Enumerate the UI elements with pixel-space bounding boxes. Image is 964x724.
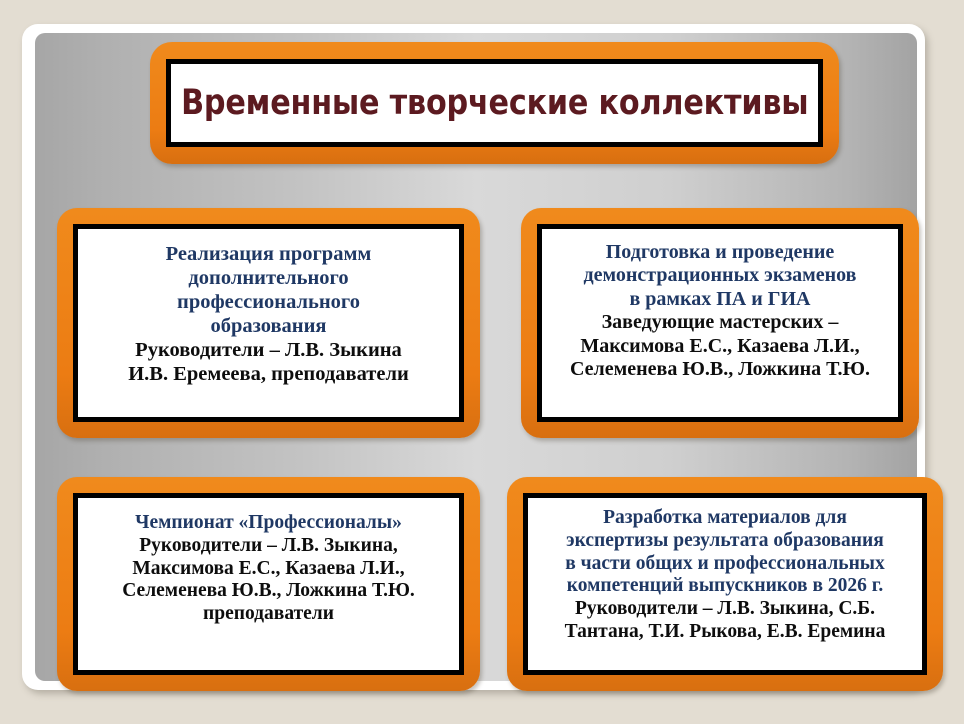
card-line: Реализация программ (84, 243, 453, 267)
card-line: Руководители – Л.В. Зыкина (84, 339, 453, 363)
card-line: Селеменева Ю.В., Ложкина Т.Ю. (548, 358, 892, 381)
card-top-left[interactable]: Реализация программ дополнительного проф… (57, 208, 480, 438)
card-line: Разработка материалов для (534, 507, 916, 530)
card-line: Заведующие мастерских – (548, 311, 892, 334)
card-top-right-inner: Подготовка и проведение демонстрационных… (537, 224, 903, 422)
card-bottom-right-inner: Разработка материалов для экспертизы рез… (523, 493, 927, 675)
slide-title-frame: Временные творческие коллективы (150, 42, 839, 164)
card-line: И.В. Еремеева, преподаватели (84, 363, 453, 387)
card-line: образования (84, 315, 453, 339)
card-line: Селеменева Ю.В., Ложкина Т.Ю. (84, 580, 453, 603)
card-line: Руководители – Л.В. Зыкина, С.Б. (534, 598, 916, 621)
card-line: Максимова Е.С., Казаева Л.И., (84, 558, 453, 581)
card-line: Тантана, Т.И. Рыкова, Е.В. Еремина (534, 621, 916, 644)
card-line: компетенций выпускников в 2026 г. (534, 575, 916, 598)
slide-canvas: Временные творческие коллективы Реализац… (0, 0, 964, 724)
card-line: преподаватели (84, 603, 453, 626)
card-bottom-left[interactable]: Чемпионат «Профессионалы» Руководители –… (57, 477, 480, 691)
card-line: профессионального (84, 291, 453, 315)
card-bottom-right[interactable]: Разработка материалов для экспертизы рез… (507, 477, 943, 691)
card-line: Подготовка и проведение (548, 241, 892, 264)
card-bottom-left-inner: Чемпионат «Профессионалы» Руководители –… (73, 493, 464, 675)
slide-title-inner: Временные творческие коллективы (166, 59, 823, 147)
card-line: в рамках ПА и ГИА (548, 288, 892, 311)
card-line: в части общих и профессиональных (534, 553, 916, 576)
card-line: демонстрационных экзаменов (548, 264, 892, 287)
card-line: экспертизы результата образования (534, 530, 916, 553)
card-line: Руководители – Л.В. Зыкина, (84, 535, 453, 558)
card-line: Чемпионат «Профессионалы» (84, 512, 453, 535)
page-title: Временные творческие коллективы (181, 84, 808, 123)
card-line: дополнительного (84, 267, 453, 291)
card-top-left-inner: Реализация программ дополнительного проф… (73, 224, 464, 422)
card-top-right[interactable]: Подготовка и проведение демонстрационных… (521, 208, 919, 438)
card-line: Максимова Е.С., Казаева Л.И., (548, 335, 892, 358)
